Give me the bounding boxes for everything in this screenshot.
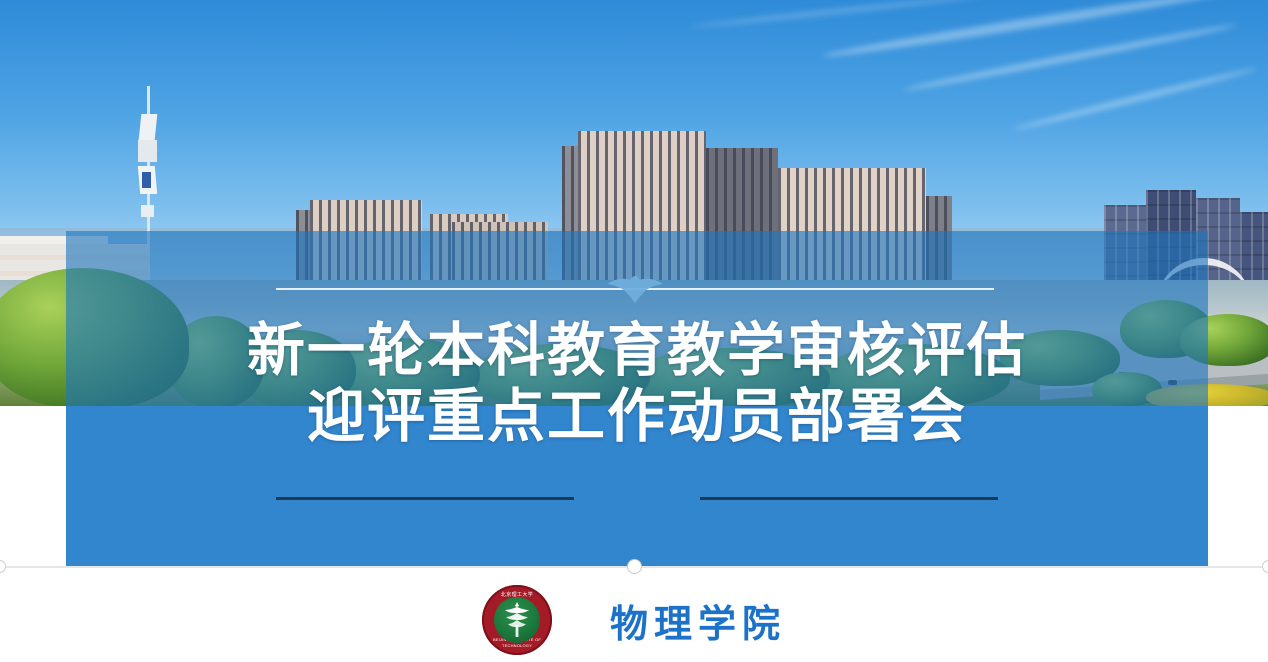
college-name: 物理学院 xyxy=(610,593,786,648)
cell-tower-antenna xyxy=(139,114,158,140)
university-logo: 北京理工大学 BEIJING INSTITUTE OF TECHNOLOGY xyxy=(482,585,552,655)
slide-title: 新一轮本科教育教学审核评估 迎评重点工作动员部署会 xyxy=(66,318,1208,450)
cloud-wisp xyxy=(691,0,990,30)
center-dot xyxy=(627,559,642,574)
divider-dot-left xyxy=(0,560,6,573)
footer: 北京理工大学 BEIJING INSTITUTE OF TECHNOLOGY 物… xyxy=(0,578,1268,662)
cell-tower-antenna xyxy=(138,140,157,162)
divider-dot-right xyxy=(1262,560,1268,573)
cloud-wisp xyxy=(1013,66,1257,132)
logo-tree-dove-icon xyxy=(503,601,531,639)
cell-tower-antenna xyxy=(142,172,151,188)
dove-icon xyxy=(606,274,664,304)
bottom-rule-right xyxy=(700,497,998,500)
cell-tower-antenna xyxy=(141,205,154,217)
title-line-2: 迎评重点工作动员部署会 xyxy=(66,384,1208,450)
presentation-slide: 新一轮本科教育教学审核评估 迎评重点工作动员部署会 北京理工大学 BEIJING… xyxy=(0,0,1268,662)
bottom-rule-left xyxy=(276,497,574,500)
logo-inner-disc xyxy=(494,597,540,643)
title-line-1: 新一轮本科教育教学审核评估 xyxy=(66,318,1208,384)
